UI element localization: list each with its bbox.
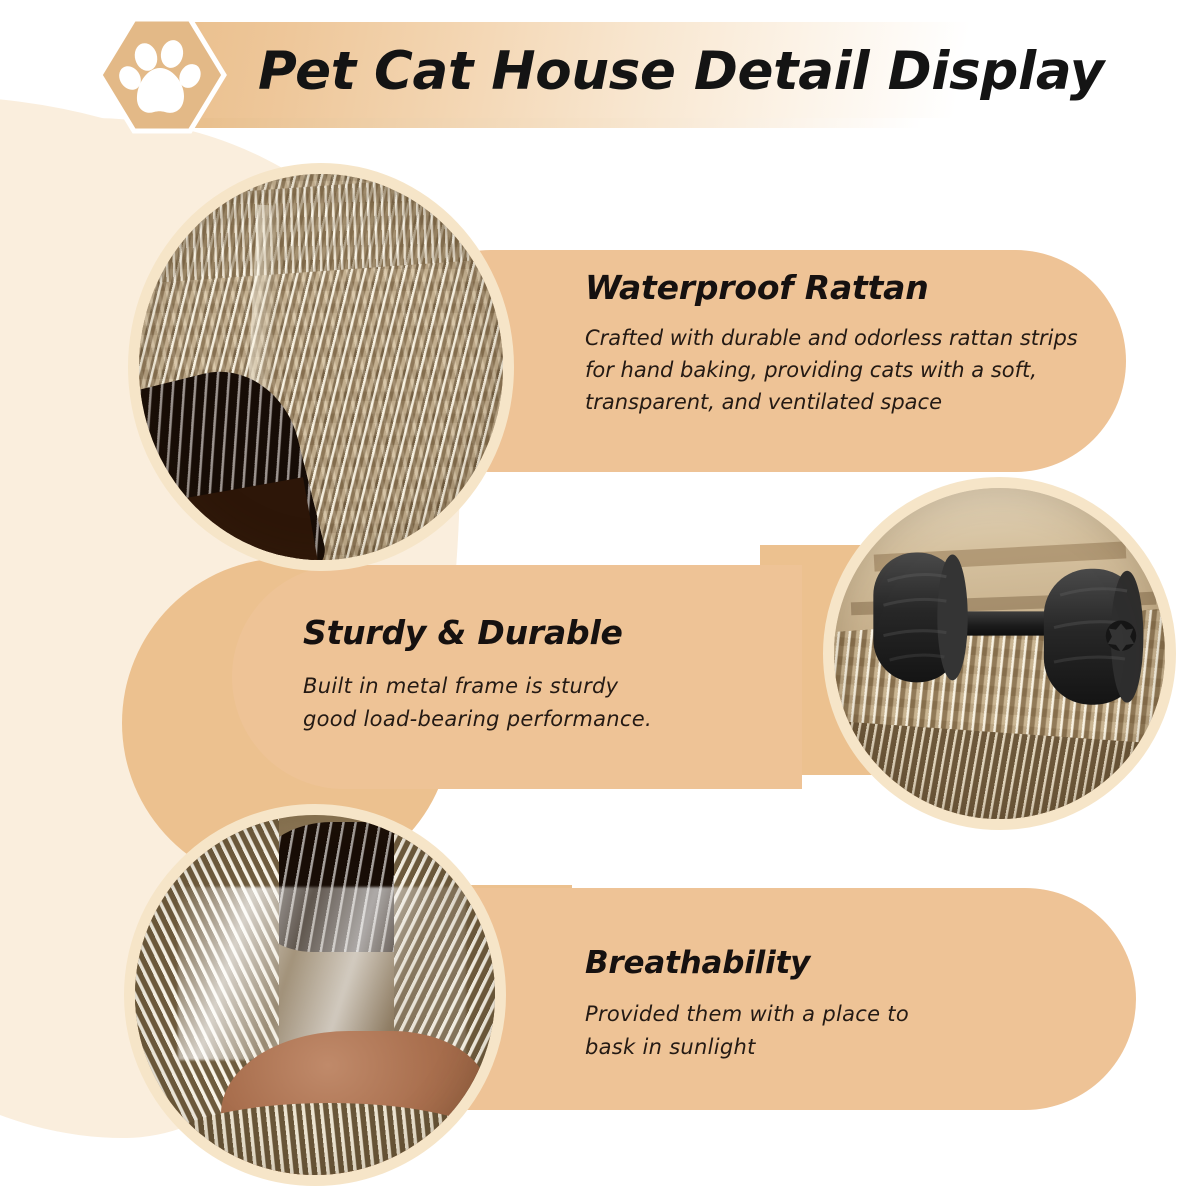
feature-body-sturdy-durable: Built in metal frame is sturdy good load…: [303, 670, 652, 735]
feature-heading-sturdy-durable: Sturdy & Durable: [303, 613, 652, 652]
dumbbell-icon: [851, 528, 1156, 733]
feature-body-line: Provided them with a place to: [585, 998, 909, 1031]
header-underline: [150, 118, 1140, 128]
paw-print-icon: [94, 16, 230, 134]
feature-body-line: transparent, and ventilated space: [585, 387, 1078, 419]
feature-body-line: for hand baking, providing cats with a s…: [585, 355, 1078, 387]
feature-body-line: Built in metal frame is sturdy: [303, 670, 652, 703]
page-title: Pet Cat House Detail Display: [258, 28, 1138, 116]
infographic-canvas: Pet Cat House Detail Display Waterproof …: [0, 0, 1183, 1196]
feature-text-sturdy-durable: Sturdy & Durable Built in metal frame is…: [303, 613, 652, 735]
photo-breathability: [124, 804, 506, 1186]
feature-text-waterproof-rattan: Waterproof Rattan Crafted with durable a…: [585, 268, 1078, 419]
feature-body-waterproof-rattan: Crafted with durable and odorless rattan…: [585, 323, 1078, 419]
feature-heading-waterproof-rattan: Waterproof Rattan: [585, 268, 1078, 307]
feature-heading-breathability: Breathability: [585, 945, 909, 981]
photo-waterproof-rattan: [128, 163, 514, 571]
feature-body-line: Crafted with durable and odorless rattan…: [585, 323, 1078, 355]
feature-body-line: bask in sunlight: [585, 1031, 909, 1064]
photo-sturdy-durable: [823, 477, 1176, 830]
feature-body-breathability: Provided them with a place to bask in su…: [585, 998, 909, 1063]
feature-body-line: good load-bearing performance.: [303, 703, 652, 736]
feature-text-breathability: Breathability Provided them with a place…: [585, 945, 909, 1063]
